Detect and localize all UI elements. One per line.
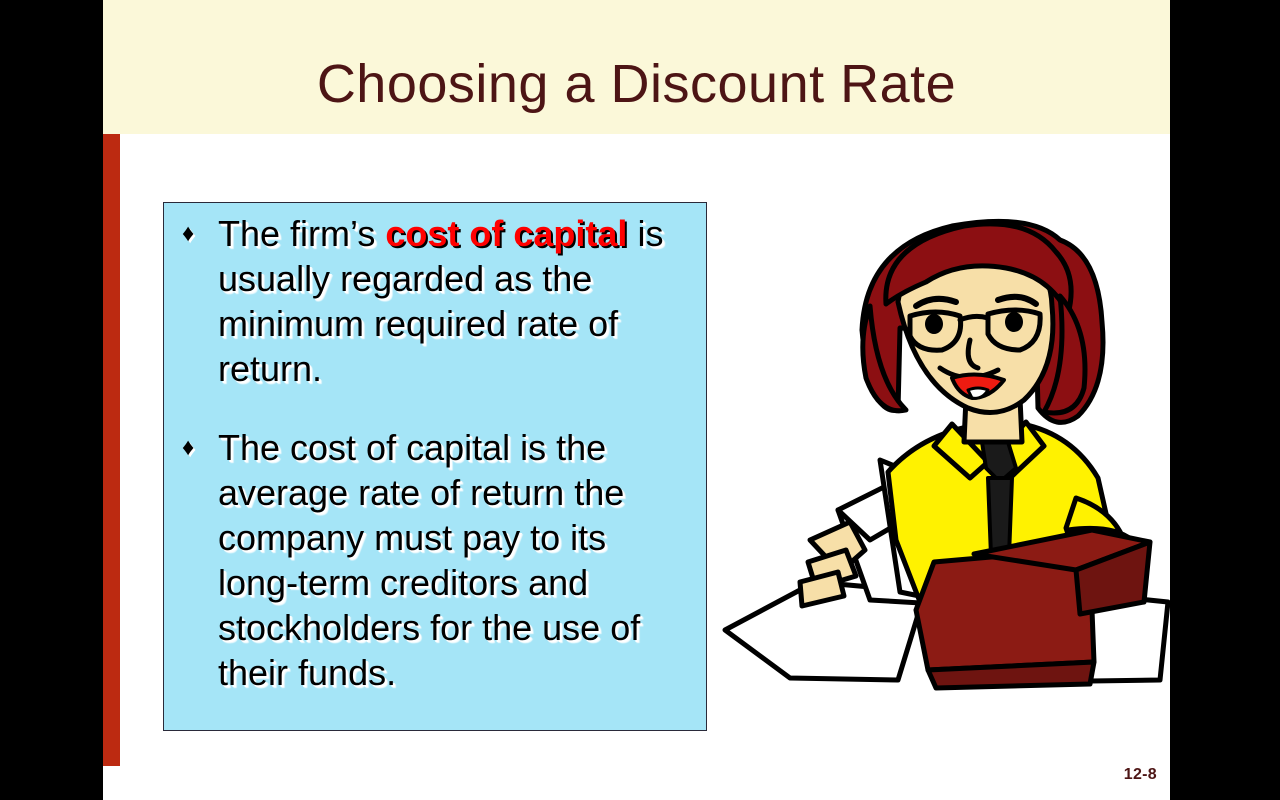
diamond-bullet-icon: ♦ [182,425,194,470]
diamond-bullet-icon: ♦ [182,211,194,256]
bullet-list: ♦ The firm’s cost of capital is usually … [164,211,708,695]
bullet-text: The firm’s cost of capital is usually re… [218,213,663,389]
bullet-segment-lead: The firm’s [218,213,385,254]
bullet-text: The cost of capital is the average rate … [218,427,640,693]
slide-letterbox-frame: Choosing a Discount Rate ♦ The firm’s co… [0,0,1280,800]
list-item: ♦ The cost of capital is the average rat… [164,425,708,695]
businesswoman-with-documents-illustration [720,210,1170,700]
presentation-slide: Choosing a Discount Rate ♦ The firm’s co… [103,0,1170,800]
title-banner: Choosing a Discount Rate [103,0,1170,134]
list-item: ♦ The firm’s cost of capital is usually … [164,211,708,391]
page-number: 12-8 [1124,766,1157,784]
red-accent-bar [103,134,120,766]
bullet-segment-highlight: cost of capital [385,213,627,254]
page-title: Choosing a Discount Rate [103,54,1170,114]
content-box: ♦ The firm’s cost of capital is usually … [163,202,707,731]
